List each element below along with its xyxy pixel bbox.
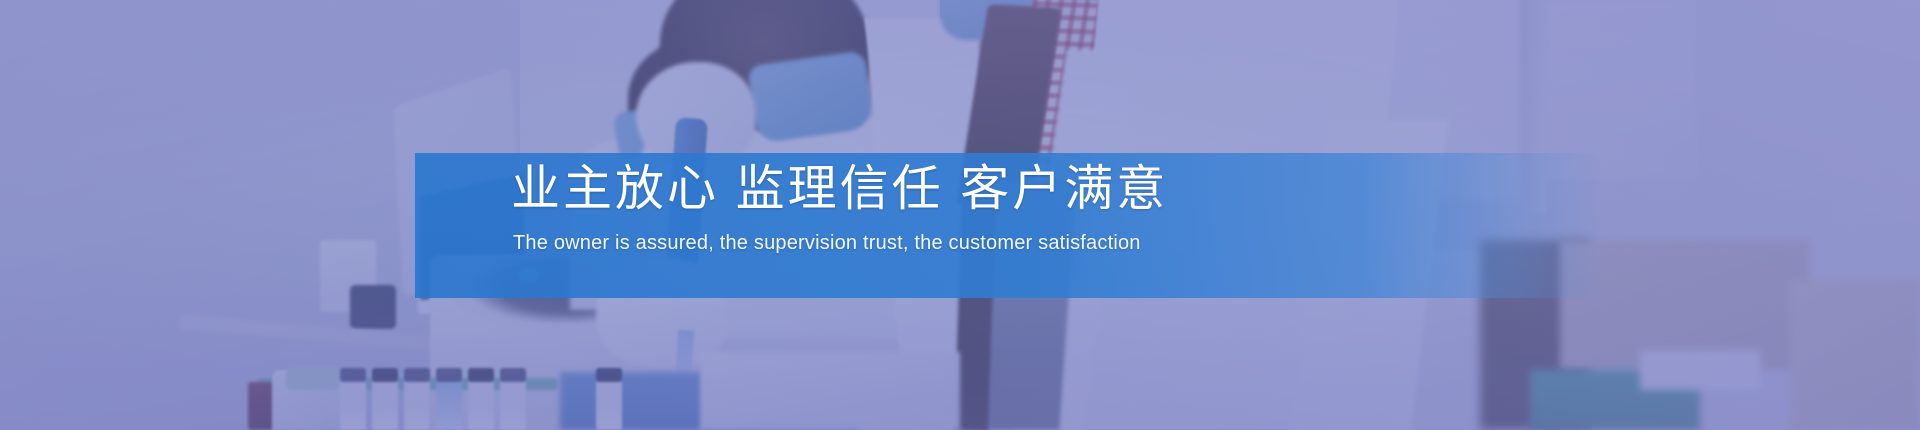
hero-banner: 业主放心 监理信任 客户满意 The owner is assured, the… xyxy=(0,0,1920,430)
headline-bar: 业主放心 监理信任 客户满意 The owner is assured, the… xyxy=(415,153,1600,298)
headline-chinese: 业主放心 监理信任 客户满意 xyxy=(511,159,1168,219)
headline-english: The owner is assured, the supervision tr… xyxy=(513,230,1141,256)
